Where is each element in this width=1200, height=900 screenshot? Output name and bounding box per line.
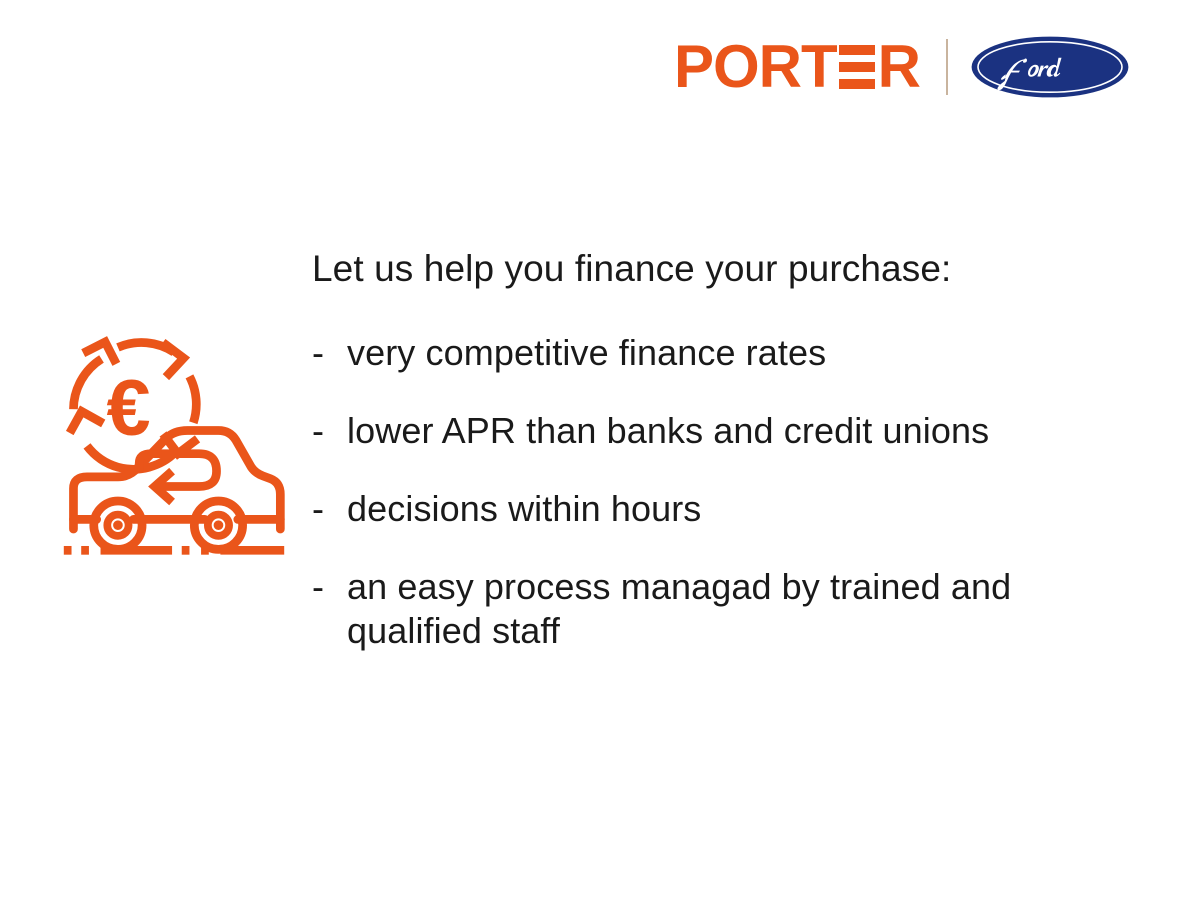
porter-stylized-e-icon	[839, 45, 875, 89]
slide-content: Let us help you finance your purchase: -…	[312, 248, 1102, 653]
bullet-marker: -	[312, 331, 347, 375]
ford-oval-logo	[970, 35, 1130, 99]
brand-lockup: PORT R	[640, 28, 1130, 106]
list-item: - decisions within hours	[312, 487, 1102, 531]
euro-symbol: €	[107, 362, 151, 451]
brand-divider	[946, 39, 948, 95]
car-finance-euro-icon: €	[58, 326, 290, 562]
bullet-marker: -	[312, 565, 347, 609]
list-item-text: an easy process managad by trained and q…	[347, 565, 1077, 653]
porter-wordmark-part2: R	[878, 37, 920, 97]
bullet-marker: -	[312, 487, 347, 531]
porter-wordmark: PORT R	[674, 37, 920, 97]
lead-heading: Let us help you finance your purchase:	[312, 248, 1102, 289]
list-item-text: lower APR than banks and credit unions	[347, 409, 1077, 453]
list-item: - an easy process managad by trained and…	[312, 565, 1102, 653]
benefits-list: - very competitive finance rates - lower…	[312, 331, 1102, 653]
porter-wordmark-part1: PORT	[674, 37, 837, 97]
bullet-marker: -	[312, 409, 347, 453]
list-item: - lower APR than banks and credit unions	[312, 409, 1102, 453]
list-item-text: decisions within hours	[347, 487, 1077, 531]
list-item-text: very competitive finance rates	[347, 331, 1077, 375]
slide-canvas: PORT R	[0, 0, 1200, 900]
list-item: - very competitive finance rates	[312, 331, 1102, 375]
